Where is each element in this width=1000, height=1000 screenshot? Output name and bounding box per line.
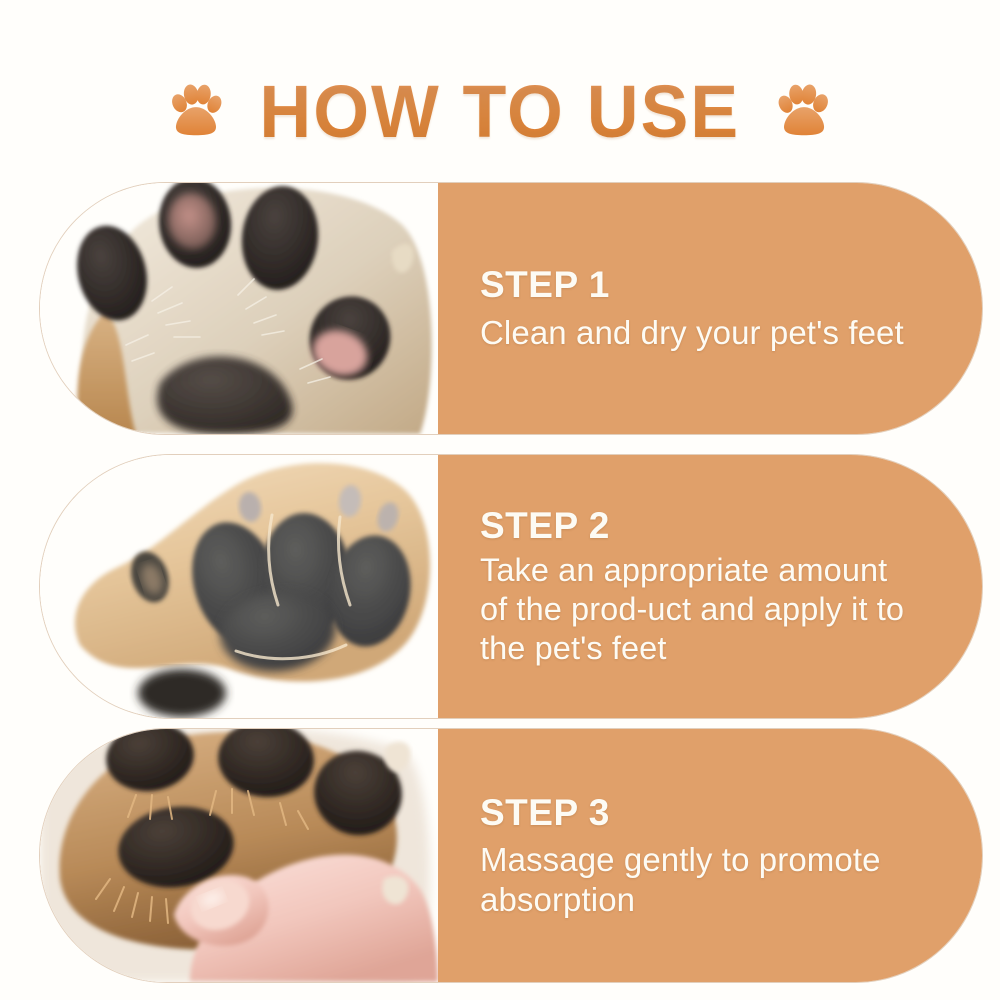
step-card-1: STEP 1 Clean and dry your pet's feet <box>40 183 982 434</box>
step-2-panel: STEP 2 Take an appropriate amount of the… <box>438 455 982 718</box>
step-card-2: STEP 2 Take an appropriate amount of the… <box>40 455 982 718</box>
step-1-label: STEP 1 <box>480 264 922 307</box>
step-card-3: STEP 3 Massage gently to promote absorpt… <box>40 729 982 982</box>
step-3-label: STEP 3 <box>480 792 922 835</box>
page-title: HOW TO USE <box>260 75 741 149</box>
step-3-photo <box>40 729 438 982</box>
paw-print-icon <box>774 81 836 143</box>
step-1-description: Clean and dry your pet's feet <box>480 313 922 353</box>
step-2-description: Take an appropriate amount of the prod-u… <box>480 551 922 668</box>
step-3-panel: STEP 3 Massage gently to promote absorpt… <box>438 729 982 982</box>
step-1-panel: STEP 1 Clean and dry your pet's feet <box>438 183 982 434</box>
paw-print-icon <box>164 81 226 143</box>
step-1-photo <box>40 183 438 434</box>
step-2-label: STEP 2 <box>480 505 922 548</box>
step-3-description: Massage gently to promote absorption <box>480 840 922 919</box>
header: HOW TO USE <box>0 62 1000 162</box>
step-2-photo <box>40 455 438 718</box>
